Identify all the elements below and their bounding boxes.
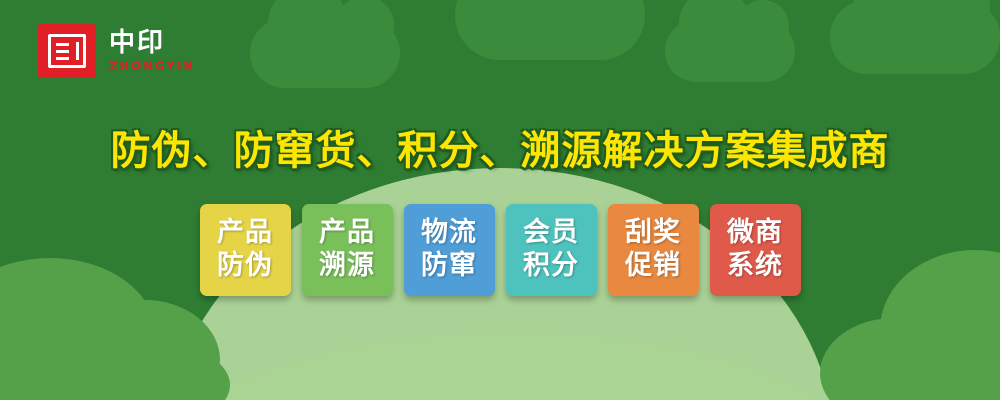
chip-line-2: 溯源 (319, 250, 375, 283)
zhongyin-seal-icon (38, 24, 96, 78)
service-chip[interactable]: 刮奖 促销 (608, 204, 699, 296)
brand-name-en: ZHONGYIN (109, 61, 195, 73)
promo-banner: 中印 ZHONGYIN 防伪、防窜货、积分、溯源解决方案集成商 产品 防伪 产品… (0, 0, 1000, 400)
chip-line-2: 系统 (727, 250, 783, 283)
cloud-shape-icon (665, 20, 795, 82)
chip-line-1: 物流 (421, 217, 477, 250)
brand-name-cn: 中印 (109, 30, 195, 56)
chip-line-2: 积分 (523, 250, 579, 283)
service-chip-row: 产品 防伪 产品 溯源 物流 防窜 会员 积分 刮奖 促销 微商 系统 (0, 204, 1000, 296)
chip-line-2: 防伪 (217, 250, 273, 283)
chip-line-2: 防窜 (421, 250, 477, 283)
service-chip[interactable]: 产品 防伪 (200, 204, 291, 296)
brand-logo-text: 中印 ZHONGYIN (109, 30, 195, 73)
headline-text: 防伪、防窜货、积分、溯源解决方案集成商 (0, 118, 1000, 176)
brand-logo[interactable]: 中印 ZHONGYIN (38, 24, 195, 78)
chip-line-1: 产品 (217, 217, 273, 250)
chip-line-1: 刮奖 (625, 217, 681, 250)
chip-line-1: 产品 (319, 217, 375, 250)
chip-line-2: 促销 (625, 250, 681, 283)
service-chip[interactable]: 物流 防窜 (404, 204, 495, 296)
chip-line-1: 会员 (523, 217, 579, 250)
service-chip[interactable]: 微商 系统 (710, 204, 801, 296)
service-chip[interactable]: 会员 积分 (506, 204, 597, 296)
cloud-shape-icon (830, 0, 1000, 74)
cloud-shape-icon (455, 0, 645, 60)
chip-line-1: 微商 (727, 217, 783, 250)
cloud-shape-icon (250, 18, 400, 88)
service-chip[interactable]: 产品 溯源 (302, 204, 393, 296)
